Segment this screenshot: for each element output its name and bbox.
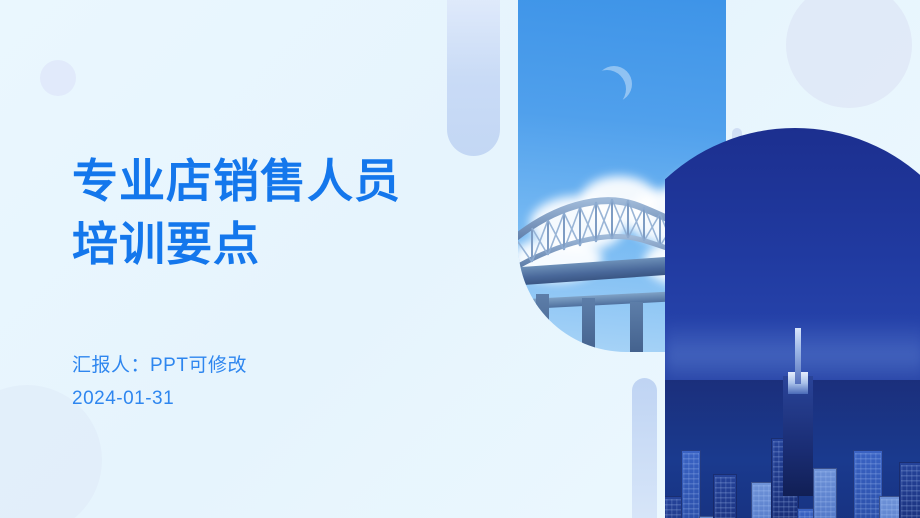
empire-state-building-spire (795, 328, 801, 384)
slide-title-line-2: 培训要点 (72, 213, 472, 276)
building (751, 482, 773, 518)
bridge-pier (630, 302, 643, 352)
building (681, 450, 701, 518)
empire-state-building (783, 376, 813, 496)
presentation-title-slide: 专业店销售人员 培训要点 汇报人：PPT可修改 2024-01-31 (0, 0, 920, 518)
building (899, 462, 920, 518)
bridge-pier (536, 294, 549, 352)
building (713, 474, 737, 518)
building (813, 468, 837, 518)
decorative-capsule-bottom (632, 378, 657, 518)
city-photo-body (665, 128, 920, 518)
decorative-capsule-top (447, 0, 500, 156)
date-label: 2024-01-31 (72, 382, 472, 415)
bridge-pier (582, 298, 595, 352)
decorative-circle-top-left (40, 60, 76, 96)
presenter-label: 汇报人：PPT可修改 (72, 349, 472, 382)
building (879, 496, 901, 518)
title-text-block: 专业店销售人员 培训要点 汇报人：PPT可修改 2024-01-31 (72, 150, 472, 416)
slide-title-line-1: 专业店销售人员 (72, 150, 472, 213)
slide-meta-block: 汇报人：PPT可修改 2024-01-31 (72, 349, 472, 416)
city-skyline (665, 380, 920, 518)
bridge-moon-sliver (596, 66, 632, 102)
city-photo (665, 0, 920, 518)
city-photo-dome-mask (665, 128, 920, 518)
